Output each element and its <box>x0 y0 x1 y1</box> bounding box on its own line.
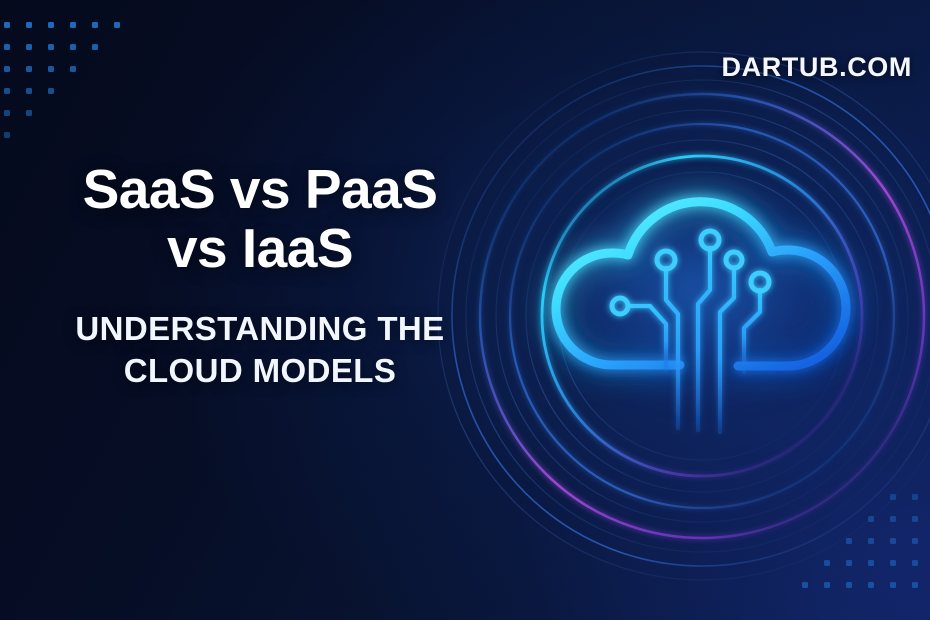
brand-watermark: DARTUB.COM <box>722 52 912 83</box>
decor-dot <box>48 44 54 50</box>
decor-dot <box>4 44 10 50</box>
decor-dot <box>92 44 98 50</box>
decor-dot <box>912 582 918 588</box>
decor-dot <box>824 560 830 566</box>
decor-dot <box>802 582 808 588</box>
dot-grid-bottom-right <box>798 468 918 588</box>
decor-dot <box>912 538 918 544</box>
decor-dot <box>70 66 76 72</box>
decor-dot <box>70 22 76 28</box>
decor-dot <box>4 66 10 72</box>
decor-dot <box>890 516 896 522</box>
decor-dot <box>48 66 54 72</box>
decor-dot <box>868 538 874 544</box>
decor-dot <box>4 88 10 94</box>
headline-block: SaaS vs PaaS vs IaaS UNDERSTANDING THE C… <box>0 160 520 392</box>
decor-dot <box>912 560 918 566</box>
decor-dot <box>890 582 896 588</box>
decor-dot <box>26 44 32 50</box>
decor-dot <box>824 582 830 588</box>
decor-dot <box>868 582 874 588</box>
decor-dot <box>48 88 54 94</box>
decor-dot <box>868 560 874 566</box>
decor-dot <box>868 516 874 522</box>
page-title: SaaS vs PaaS vs IaaS <box>0 160 520 278</box>
decor-dot <box>4 110 10 116</box>
decor-dot <box>890 494 896 500</box>
poster-canvas: SaaS vs PaaS vs IaaS UNDERSTANDING THE C… <box>0 0 930 620</box>
decor-dot <box>4 132 10 138</box>
decor-dot <box>114 22 120 28</box>
decor-dot <box>846 582 852 588</box>
dot-grid-top-left <box>4 22 124 142</box>
decor-dot <box>846 560 852 566</box>
decor-dot <box>48 22 54 28</box>
page-subtitle: UNDERSTANDING THE CLOUD MODELS <box>0 308 520 392</box>
decor-dot <box>70 44 76 50</box>
decor-dot <box>846 538 852 544</box>
decor-dot <box>26 66 32 72</box>
decor-dot <box>912 494 918 500</box>
decor-dot <box>92 22 98 28</box>
decor-dot <box>912 516 918 522</box>
decor-dot <box>26 22 32 28</box>
decor-dot <box>4 22 10 28</box>
decor-dot <box>890 538 896 544</box>
decor-dot <box>26 88 32 94</box>
decor-dot <box>26 110 32 116</box>
cloud-circuit-icon <box>520 140 900 440</box>
decor-dot <box>890 560 896 566</box>
